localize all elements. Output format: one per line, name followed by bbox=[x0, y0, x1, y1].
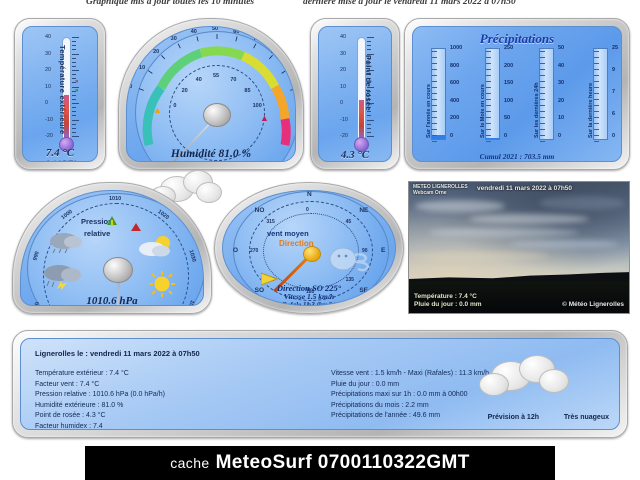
humidity-outer-tick: 70 bbox=[253, 36, 259, 42]
summary-left-line: Point de rosée : 4.3 °C bbox=[35, 411, 165, 422]
humidity-outer-tick: 60 bbox=[233, 29, 239, 35]
thermo-scale-tick: 40 bbox=[45, 34, 51, 40]
humidity-inner-tick: 55 bbox=[213, 73, 219, 79]
summary-left-line: Pression relative : 1010.6 hPa (0.0 hPa/… bbox=[35, 390, 165, 401]
wind-cardinal-no: NO bbox=[255, 207, 265, 214]
precip-bar-track bbox=[431, 48, 446, 140]
humidity-outer-tick: 40 bbox=[191, 29, 197, 35]
summary-left-column: Température extérieur : 7.4 °CFacteur ve… bbox=[35, 369, 165, 430]
precip-scale-tick: 7 bbox=[612, 89, 615, 95]
precip-scale-tick: 200 bbox=[450, 115, 459, 121]
pressure-marker-green-icon bbox=[107, 213, 117, 231]
precip-scale-tick: 0 bbox=[612, 133, 615, 139]
webcam-copyright: © Météo Lignerolles bbox=[562, 301, 624, 308]
precip-bar-label: Sur les dernières 24h bbox=[534, 82, 540, 138]
forecast-value: Très nuageux bbox=[564, 414, 609, 421]
dewpoint-gauge-title: Point de rosée bbox=[364, 55, 373, 111]
precip-scale-tick: 9 bbox=[612, 67, 615, 73]
humidity-outer-tick: 100 bbox=[295, 84, 296, 90]
precip-scale-tick: 20 bbox=[558, 98, 564, 104]
temp-gauge-title: Température extérieure bbox=[58, 45, 67, 134]
summary-right-line: Précipitations du mois : 2.2 mm bbox=[331, 401, 489, 412]
summary-right-column: Vitesse vent : 1.5 km/h - Maxi (Rafales)… bbox=[331, 369, 489, 422]
precip-bar-label: Sur la dernière heure bbox=[588, 83, 594, 138]
precip-bar-fill bbox=[486, 138, 499, 139]
wind-degree-tick: 0 bbox=[306, 207, 309, 213]
thermo-scale-tick: 0 bbox=[340, 100, 343, 106]
footer-bar: cache MeteoSurf 0700110322GMT bbox=[85, 446, 555, 480]
wind-gust-readout: Rafale 11.3 (km/h) bbox=[223, 301, 395, 306]
thermo-scale-tick: 10 bbox=[45, 84, 51, 90]
temp-sub-value: -0.4 °C(R) bbox=[23, 159, 97, 162]
wind-cardinal-e: E bbox=[381, 247, 385, 254]
thermo-scale-tick: 0 bbox=[45, 100, 48, 106]
wind-cardinal-o: O bbox=[233, 247, 238, 254]
precip-scale-tick: 50 bbox=[504, 115, 510, 121]
precip-scale-tick: 0 bbox=[450, 133, 453, 139]
precipitation-panel: Précipitations Sur l'année en cours10008… bbox=[404, 18, 630, 170]
forecast-label: Prévision à 12h bbox=[488, 414, 539, 421]
precipitation-cumul: Cumul 2021 : 703.5 mm bbox=[413, 152, 621, 161]
humidity-outer-tick: 90 bbox=[285, 65, 291, 71]
precipitation-title: Précipitations bbox=[413, 31, 621, 47]
precip-scale-tick: 25 bbox=[612, 45, 618, 51]
precip-scale-tick: 800 bbox=[450, 63, 459, 69]
precip-scale-tick: 200 bbox=[504, 63, 513, 69]
dewpoint-value: 4.3 °C bbox=[319, 149, 391, 161]
precip-scale-tick: 1000 bbox=[450, 45, 462, 51]
precip-scale-tick: 0 bbox=[558, 133, 561, 139]
summary-heading: Lignerolles le : vendredi 11 mars 2022 à… bbox=[35, 349, 200, 358]
aeolus-face-icon bbox=[327, 243, 369, 282]
pressure-scale-tick: 1010 bbox=[109, 196, 121, 202]
precip-scale-tick: 250 bbox=[504, 45, 513, 51]
summary-right-line: Précipitations maxi sur 1h : 0.0 mm à 00… bbox=[331, 390, 489, 401]
temp-value: 7.4 °C bbox=[23, 147, 97, 159]
summary-left-line: Facteur vent : 7.4 °C bbox=[35, 380, 165, 391]
humidity-inner-tick: 100 bbox=[253, 103, 262, 109]
wind-degree-tick: 45 bbox=[346, 219, 352, 225]
precip-scale-tick: 150 bbox=[504, 80, 513, 86]
wind-cardinal-n: N bbox=[307, 191, 312, 198]
precip-scale-tick: 6 bbox=[612, 111, 615, 117]
summary-left-line: Température extérieur : 7.4 °C bbox=[35, 369, 165, 380]
summary-right-line: Pluie du jour : 0.0 mm bbox=[331, 380, 489, 391]
thermo-scale-tick: -20 bbox=[45, 133, 53, 139]
pressure-panel: 98099010001010102010301040 Pression rela… bbox=[12, 182, 212, 314]
humidity-outer-tick: 10 bbox=[139, 65, 145, 71]
wind-cardinal-ne: NE bbox=[359, 207, 368, 214]
summary-left-line: Humidité extérieure : 81.0 % bbox=[35, 401, 165, 412]
summary-panel: Lignerolles le : vendredi 11 mars 2022 à… bbox=[12, 330, 628, 438]
pressure-trend: (0.0 hPa/h) bbox=[21, 305, 203, 306]
wind-degree-tick: 315 bbox=[266, 219, 274, 225]
thermo-scale-tick: -10 bbox=[45, 117, 53, 123]
humidity-inner-tick: 70 bbox=[230, 77, 236, 83]
wind-degree-tick: 270 bbox=[250, 248, 258, 254]
webcam-temp-overlay: Température : 7.4 °C bbox=[414, 293, 477, 300]
thermo-scale-tick: 30 bbox=[340, 51, 346, 57]
summary-right-line: Précipitations de l'année : 49.6 mm bbox=[331, 411, 489, 422]
humidity-outer-tick: 20 bbox=[153, 49, 159, 55]
pressure-marker-red-icon bbox=[131, 218, 141, 236]
precip-scale-tick: 100 bbox=[504, 98, 513, 104]
thermo-scale-tick: 40 bbox=[340, 34, 346, 40]
footer-title: MeteoSurf 0700110322GMT bbox=[216, 452, 470, 474]
thermo-scale-tick: -20 bbox=[340, 133, 348, 139]
humidity-inner-tick: 85 bbox=[244, 88, 250, 94]
precip-bar-track bbox=[593, 48, 608, 140]
footer-cache-label: cache bbox=[170, 455, 209, 471]
precip-scale-tick: 400 bbox=[450, 98, 459, 104]
weather-dashboard: Graphique mis à jour toutes les 10 minut… bbox=[0, 0, 640, 480]
thermo-scale-tick: 30 bbox=[45, 51, 51, 57]
precip-bar-track bbox=[539, 48, 554, 140]
wind-speed-readout: Vitesse 1.5 km/h bbox=[223, 292, 395, 301]
webcam-rain-overlay: Pluie du jour : 0.0 mm bbox=[414, 301, 482, 308]
webcam-timestamp: vendredi 11 mars 2022 à 07h50 bbox=[477, 185, 572, 192]
precip-bar-label: Sur le Mois en cours bbox=[480, 84, 486, 138]
precip-scale-tick: 10 bbox=[558, 115, 564, 121]
summary-left-line: Facteur humidex : 7.4 bbox=[35, 422, 165, 431]
humidity-outer-tick: 30 bbox=[171, 36, 177, 42]
precip-bar-track bbox=[485, 48, 500, 140]
humidity-outer-tick: 50 bbox=[212, 26, 218, 32]
precip-bar-label: Sur l'année en cours bbox=[426, 84, 432, 138]
dewpoint-panel: 403020100-10-20 Point de rosée » 4.3 °C bbox=[310, 18, 400, 170]
thermo-scale-tick: 10 bbox=[340, 84, 346, 90]
rain-cloud-icon bbox=[49, 231, 83, 258]
humidity-panel: 0102030405060708090100 02040557085100 ▲ … bbox=[118, 18, 304, 170]
precip-scale-tick: 40 bbox=[558, 63, 564, 69]
humidity-outer-tick: 80 bbox=[271, 49, 277, 55]
thermo-scale-tick: 20 bbox=[45, 67, 51, 73]
humidity-inner-tick: 0 bbox=[173, 103, 176, 109]
webcam-station-line2: Webcam Orne bbox=[413, 190, 447, 196]
update-note-left: Graphique mis à jour toutes les 10 minut… bbox=[86, 0, 254, 7]
storm-cloud-icon bbox=[43, 263, 83, 294]
humidex-readout: Humidex 7.4 bbox=[127, 161, 295, 162]
precip-scale-tick: 600 bbox=[450, 80, 459, 86]
thermo-scale-tick: -10 bbox=[340, 117, 348, 123]
summary-right-line: Vitesse vent : 1.5 km/h - Maxi (Rafales)… bbox=[331, 369, 489, 380]
wind-panel: NNEESESSOONO 45901351802252703150 vent m… bbox=[214, 182, 404, 314]
update-note-right: dernière mise à jour le vendredi 11 mars… bbox=[303, 0, 516, 7]
webcam-image[interactable]: METEO LIGNEROLLES Webcam Orne vendredi 1… bbox=[408, 181, 630, 314]
sun-cloud-icon bbox=[139, 235, 175, 264]
webcam-sky bbox=[409, 182, 629, 284]
thermo-scale-tick: 20 bbox=[340, 67, 346, 73]
precip-scale-tick: 0 bbox=[504, 133, 507, 139]
wind-title-1: vent moyen bbox=[267, 229, 309, 238]
humidity-outer-tick: 0 bbox=[129, 84, 132, 90]
humidity-inner-tick: 20 bbox=[182, 88, 188, 94]
humidity-readout: Humidité 81.0 % bbox=[127, 148, 295, 160]
humidity-inner-tick: 40 bbox=[196, 77, 202, 83]
precip-scale-tick: 30 bbox=[558, 80, 564, 86]
precip-scale-tick: 50 bbox=[558, 45, 564, 51]
outdoor-temperature-panel: 403020100-10-20 Température extérieure »… bbox=[14, 18, 106, 170]
